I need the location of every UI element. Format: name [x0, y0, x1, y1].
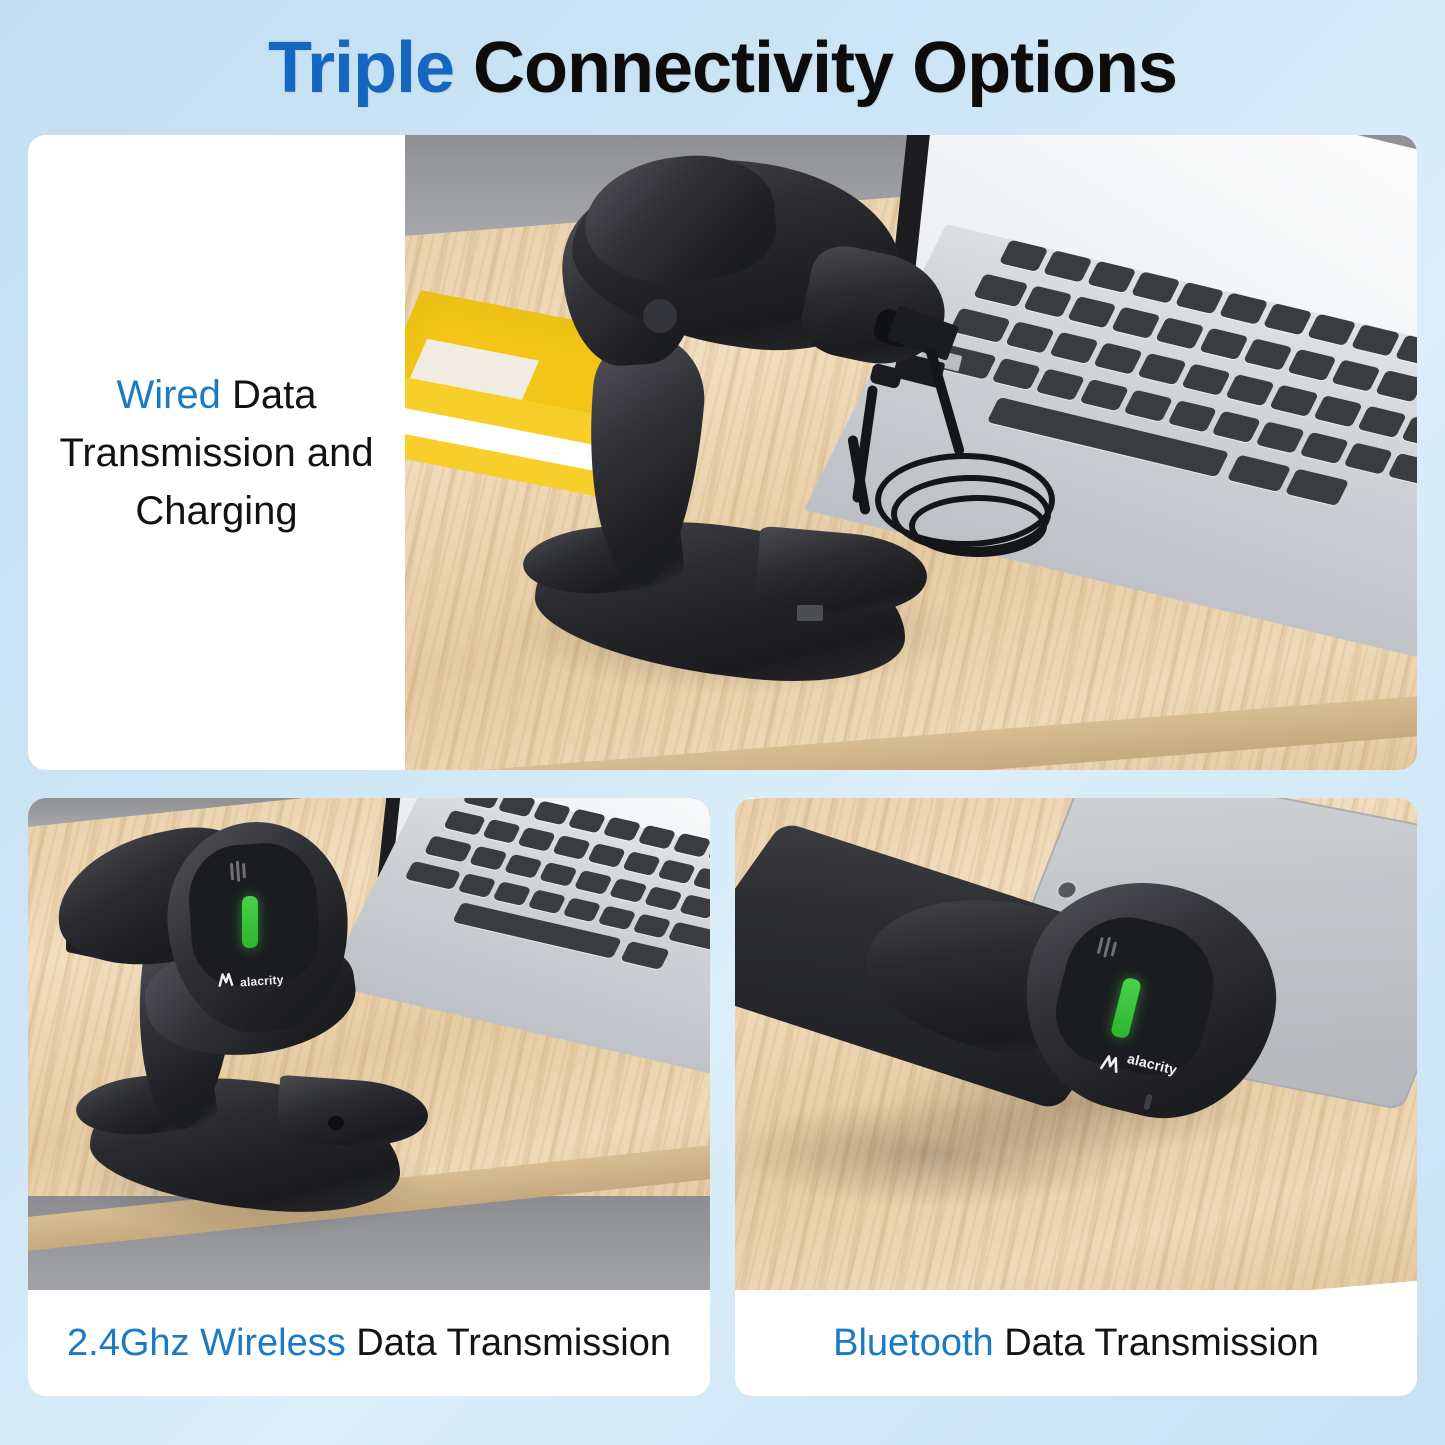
keyboard-key: [539, 862, 578, 887]
keyboard-key: [991, 358, 1041, 390]
keyboard-key: [1131, 271, 1181, 303]
keyboard-key: [1023, 285, 1073, 317]
keyboard-key: [1287, 349, 1337, 381]
keyboard-key: [1167, 400, 1217, 432]
wired-caption-line3: Charging: [135, 489, 297, 533]
usb-cable-coil: [909, 495, 1047, 557]
keyboard-key: [1079, 379, 1129, 411]
keyboard-key: [567, 809, 606, 834]
keyboard-key: [1351, 324, 1401, 356]
page-header: Triple Connectivity Options: [0, 0, 1445, 135]
keyboard-key: [504, 854, 543, 879]
scanner-stand-hole: [328, 1116, 344, 1130]
keyboard-key: [552, 835, 591, 860]
scanner-stand-logo: [797, 605, 823, 621]
bluetooth-caption: Bluetooth Data Transmission: [833, 1322, 1319, 1365]
scanner-brand-mark-icon: [217, 971, 240, 988]
keyboard-key: [1049, 332, 1099, 364]
keyboard-key: [517, 827, 556, 852]
keyboard-key: [1313, 395, 1363, 427]
keyboard-key: [1087, 261, 1137, 293]
keyboard-key: [532, 800, 571, 825]
keyboard-key: [1155, 317, 1205, 349]
keyboard-key: [482, 819, 521, 844]
bluetooth-caption-accent: Bluetooth: [833, 1322, 994, 1364]
card-wireless-connectivity: alacrity 2.4Ghz Wireless Data Transmissi…: [28, 798, 710, 1396]
keyboard-key: [1357, 406, 1407, 438]
keyboard-key: [587, 843, 626, 868]
keyboard-key: [1263, 303, 1313, 335]
keyboard-key: [1225, 374, 1275, 406]
keyboard-key: [1375, 370, 1417, 402]
keyboard-key: [672, 833, 710, 858]
keyboard-key: [1067, 296, 1117, 328]
keyboard-key: [657, 859, 696, 884]
keyboard-key: [609, 878, 648, 903]
keyboard-key: [1299, 432, 1349, 464]
scanner-status-led: [242, 896, 258, 948]
keyboard-key: [1175, 282, 1225, 314]
keyboard-key: [497, 798, 536, 817]
wireless-caption-rest: Data Transmission: [346, 1322, 671, 1364]
keyboard-key: [1255, 421, 1305, 453]
keyboard-key: [1395, 335, 1417, 367]
keyboard-key: [1211, 411, 1261, 443]
keyboard-key: [1331, 359, 1381, 391]
wired-caption: Wired Data Transmission and Charging: [45, 366, 387, 540]
keyboard-key: [1387, 453, 1417, 491]
keyboard-key: [443, 810, 486, 836]
bluetooth-caption-bar: Bluetooth Data Transmission: [735, 1290, 1417, 1396]
keyboard-key: [1199, 328, 1249, 360]
wired-caption-line1: Data: [221, 373, 317, 417]
wireless-caption-accent: 2.4Ghz Wireless: [67, 1322, 346, 1364]
keyboard-key: [620, 941, 670, 970]
keyboard-key: [602, 817, 641, 842]
keyboard-key: [574, 870, 613, 895]
keyboard-key: [973, 273, 1029, 307]
keyboard-key: [1307, 314, 1357, 346]
keyboard-key: [692, 867, 710, 892]
card-bluetooth-connectivity: alacrity Bluetooth Data Transmission: [735, 798, 1417, 1396]
keyboard-key: [1269, 385, 1319, 417]
keyboard-key: [622, 851, 661, 876]
wireless-caption: 2.4Ghz Wireless Data Transmission: [67, 1322, 671, 1365]
keyboard-key: [1005, 321, 1055, 353]
keyboard-key: [1137, 353, 1187, 385]
keyboard-key: [1093, 342, 1143, 374]
keyboard-key: [562, 897, 601, 922]
page-title-accent: Triple: [268, 28, 454, 108]
bluetooth-caption-rest: Data Transmission: [994, 1322, 1319, 1364]
scanner-speaker-grille: [643, 299, 677, 333]
keyboard-key: [462, 798, 501, 809]
keyboard-key: [1227, 455, 1291, 492]
wired-caption-panel: Wired Data Transmission and Charging: [28, 135, 405, 770]
keyboard-key: [644, 886, 683, 911]
bluetooth-scene: alacrity: [735, 798, 1417, 1290]
wireless-scene: alacrity: [28, 798, 710, 1290]
wired-caption-line2: Transmission and: [59, 431, 373, 475]
keyboard-key: [457, 873, 496, 898]
keyboard-key: [632, 914, 671, 939]
keyboard-key: [1219, 292, 1269, 324]
bluetooth-photo: alacrity: [735, 798, 1417, 1290]
wireless-caption-bar: 2.4Ghz Wireless Data Transmission: [28, 1290, 710, 1396]
keyboard-key: [597, 905, 636, 930]
keyboard-key: [1111, 307, 1161, 339]
keyboard-key: [1243, 338, 1293, 370]
wired-photo: [405, 135, 1417, 770]
wireless-photo: alacrity: [28, 798, 710, 1290]
keyboard-key: [1285, 468, 1349, 505]
keyboard-key: [637, 825, 676, 850]
page-title-rest: Connectivity Options: [454, 28, 1177, 108]
keyboard-key: [1123, 390, 1173, 422]
keyboard-key: [679, 894, 710, 919]
keyboard-key: [1181, 363, 1231, 395]
wired-scene: [405, 135, 1417, 770]
page-title: Triple Connectivity Options: [268, 32, 1177, 104]
keyboard-key: [492, 881, 531, 906]
wired-caption-accent: Wired: [116, 373, 220, 417]
keyboard-key: [1035, 368, 1085, 400]
keyboard-key: [527, 889, 566, 914]
scanner-wave-icon: [227, 859, 254, 883]
keyboard-key: [1043, 250, 1093, 282]
keyboard-key: [1343, 442, 1393, 474]
keyboard-key: [667, 922, 710, 951]
keyboard-key: [469, 846, 508, 871]
card-wired-connectivity: Wired Data Transmission and Charging: [28, 135, 1417, 770]
